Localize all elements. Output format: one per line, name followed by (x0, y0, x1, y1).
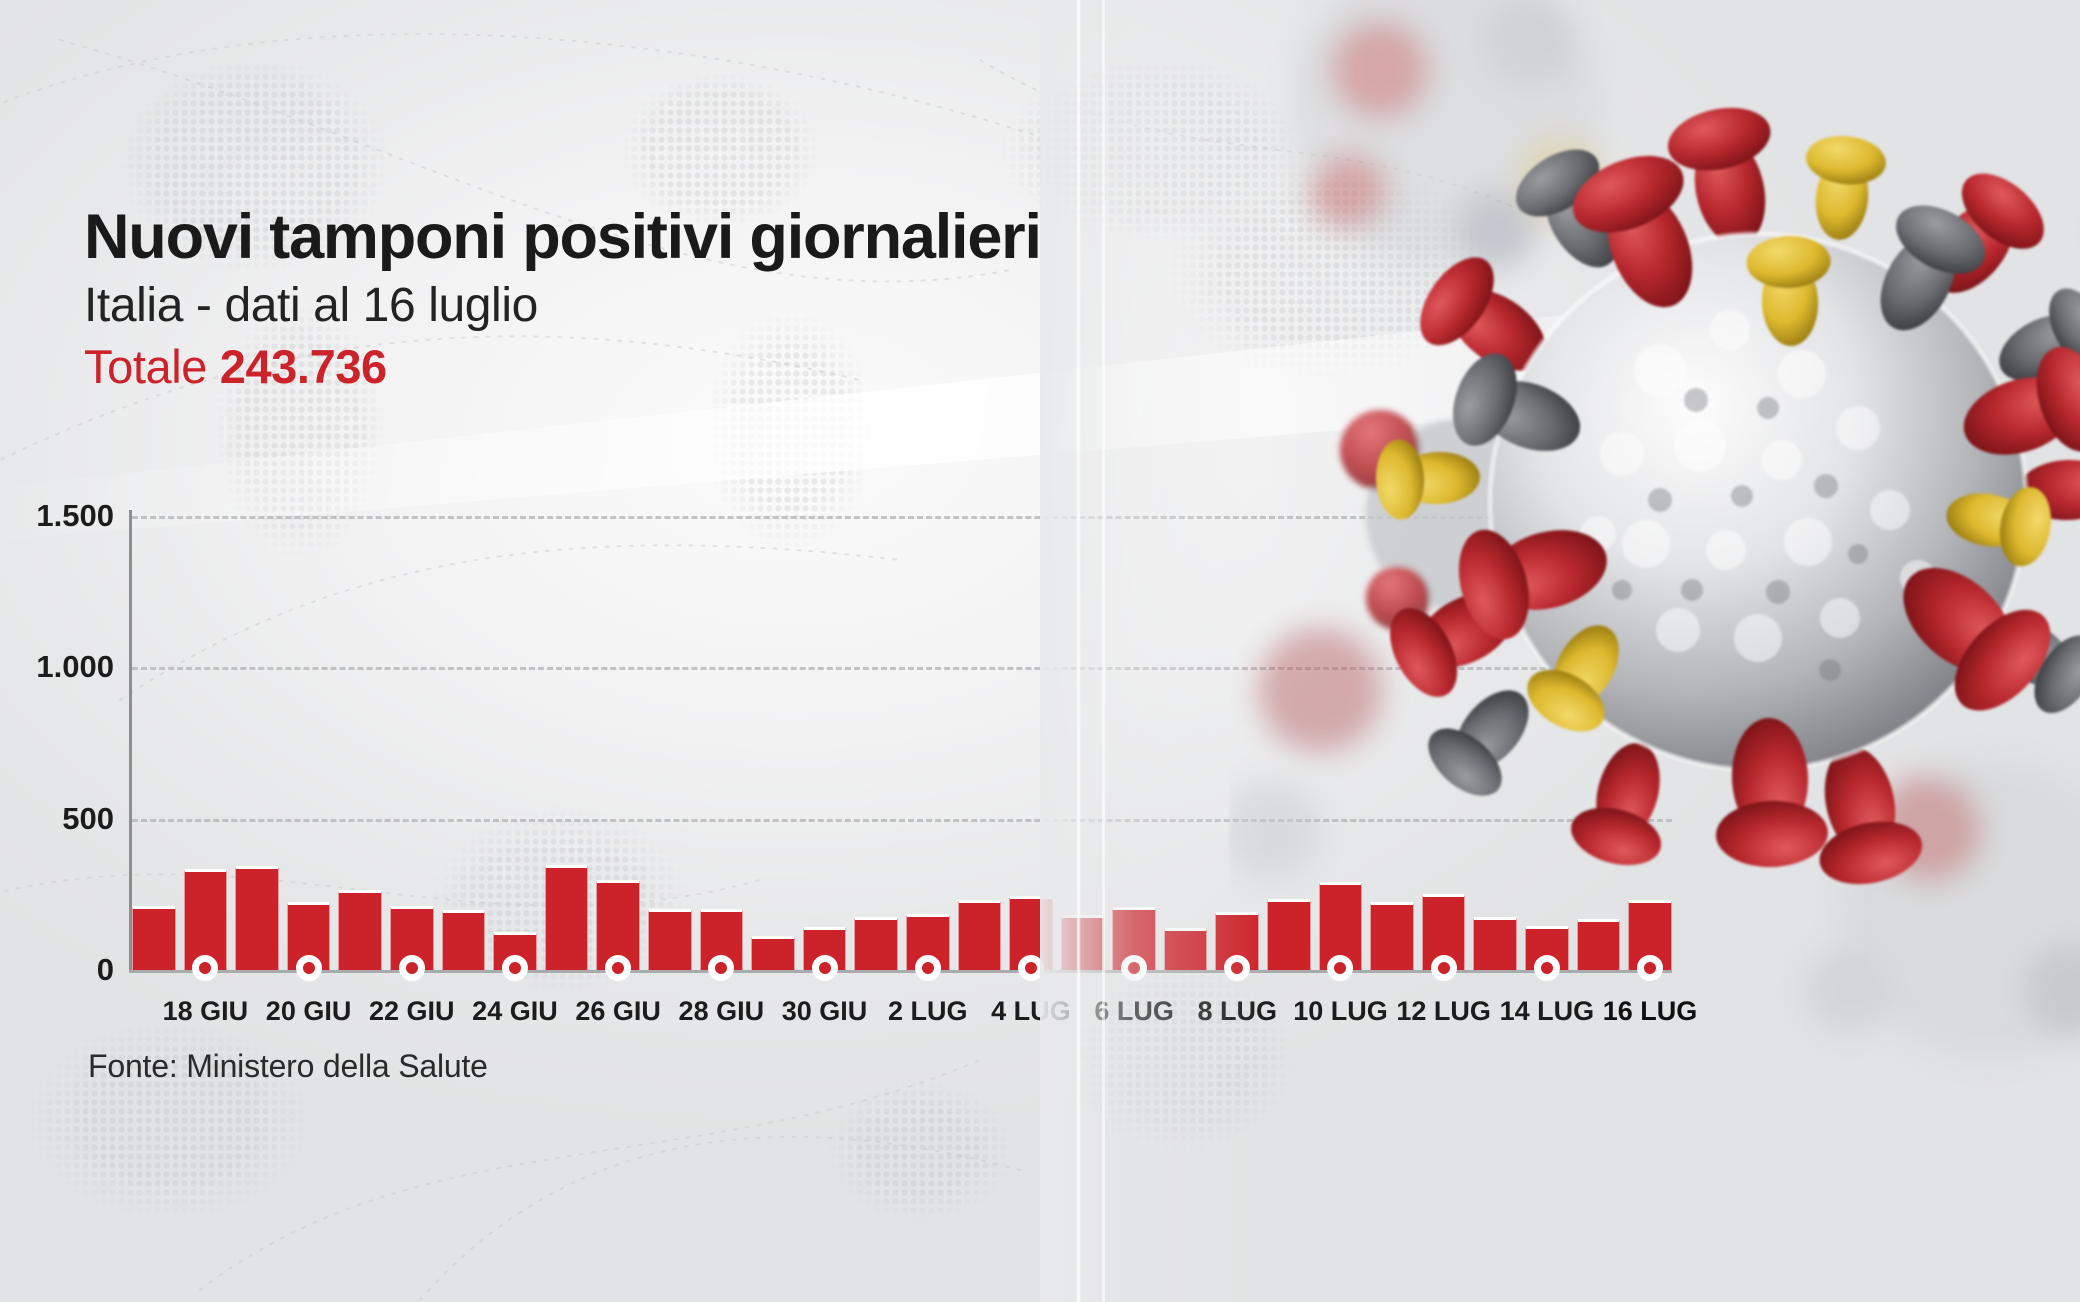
y-axis-label: 500 (62, 801, 114, 837)
y-axis-label: 1.000 (36, 649, 114, 685)
x-tick-label: 4 LUG (991, 996, 1071, 1027)
x-tick-label: 6 LUG (1094, 996, 1174, 1027)
y-axis-label: 1.500 (36, 498, 114, 534)
x-tick-label: 16 LUG (1603, 996, 1698, 1027)
y-axis-label: 0 (97, 952, 114, 988)
bar (1473, 917, 1517, 970)
bar (1370, 902, 1414, 970)
x-tick-marker-dot (1637, 955, 1663, 981)
x-tick-label: 24 GIU (472, 996, 558, 1027)
x-tick-label: 26 GIU (575, 996, 661, 1027)
x-tick-label: 10 LUG (1293, 996, 1388, 1027)
bar (854, 917, 898, 970)
x-tick-label: 14 LUG (1500, 996, 1595, 1027)
x-tick-label: 28 GIU (679, 996, 765, 1027)
bar (338, 890, 382, 970)
page-title: Nuovi tamponi positivi giornalieri (84, 205, 1041, 270)
bar (1267, 899, 1311, 970)
bar (958, 900, 1002, 970)
x-tick-label: 8 LUG (1198, 996, 1278, 1027)
x-tick-marker-dot (708, 955, 734, 981)
bar-series (132, 516, 1672, 970)
x-tick-marker-dot (915, 955, 941, 981)
bar (1164, 928, 1208, 970)
total-label: Totale (84, 340, 207, 393)
bar (1061, 915, 1105, 970)
x-tick-marker-dot (1534, 955, 1560, 981)
x-tick-label: 20 GIU (266, 996, 352, 1027)
x-tick-label: 2 LUG (888, 996, 968, 1027)
bar (132, 906, 176, 970)
bar (442, 910, 486, 970)
bar (1577, 919, 1621, 970)
bar (648, 909, 692, 970)
x-tick-marker-dot (502, 955, 528, 981)
header-block: Nuovi tamponi positivi giornalieri Itali… (84, 205, 1041, 394)
x-tick-marker-dot (1121, 955, 1147, 981)
x-tick-marker-dot (1327, 955, 1353, 981)
x-tick-marker-dot (399, 955, 425, 981)
total-line: Totale 243.736 (84, 339, 1041, 394)
x-tick-marker-dot (812, 955, 838, 981)
total-value: 243.736 (220, 340, 387, 393)
x-tick-label: 18 GIU (163, 996, 249, 1027)
x-tick-label: 22 GIU (369, 996, 455, 1027)
source-note: Fonte: Ministero della Salute (88, 1048, 488, 1085)
bar (235, 866, 279, 970)
x-tick-marker-dot (1431, 955, 1457, 981)
x-tick-label: 30 GIU (782, 996, 868, 1027)
page-subtitle: Italia - dati al 16 luglio (84, 278, 1041, 333)
x-tick-marker-dot (192, 955, 218, 981)
x-tick-marker-dot (296, 955, 322, 981)
bar (545, 865, 589, 970)
plot-area: 05001.0001.500 18 GIU20 GIU22 GIU24 GIU2… (132, 516, 1672, 970)
x-tick-marker-dot (1224, 955, 1250, 981)
x-tick-marker-dot (605, 955, 631, 981)
bar (751, 936, 795, 971)
x-tick-marker-dot (1018, 955, 1044, 981)
x-tick-label: 12 LUG (1396, 996, 1491, 1027)
bar-chart: 05001.0001.500 18 GIU20 GIU22 GIU24 GIU2… (132, 516, 1672, 970)
